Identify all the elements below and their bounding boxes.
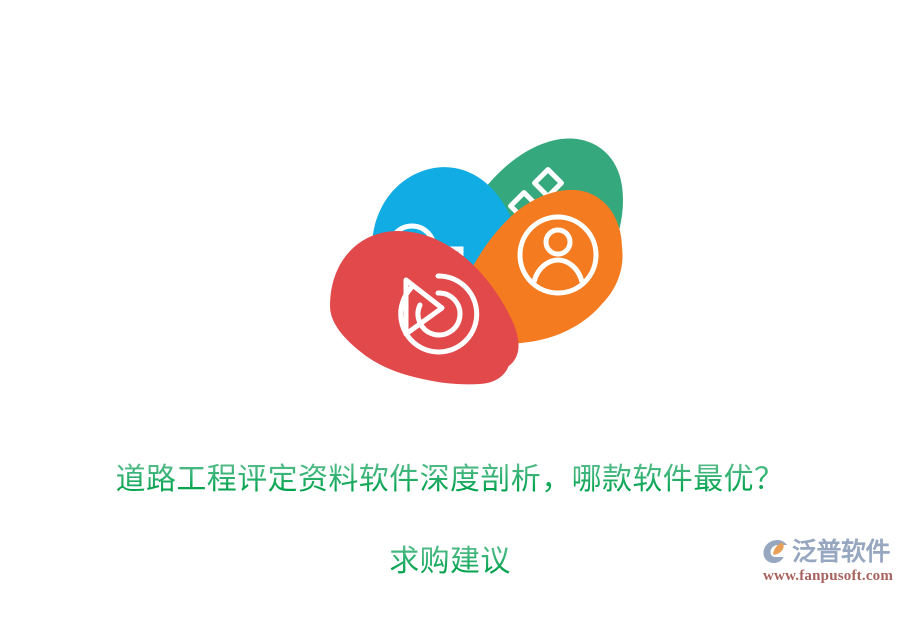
watermark-brand-row: 泛普软件: [762, 536, 890, 566]
headline-line-1: 道路工程评定资料软件深度剖析，哪款软件最优？: [0, 459, 900, 500]
page-root: 道路工程评定资料软件深度剖析，哪款软件最优？ 求购建议 泛普软件 www.fan…: [0, 0, 900, 600]
page-headline: 道路工程评定资料软件深度剖析，哪款软件最优？ 求购建议: [0, 418, 900, 623]
watermark-brand-name: 泛普软件: [792, 538, 890, 565]
brand-logo: [310, 72, 630, 402]
fanpu-g-mark-icon: [762, 538, 789, 565]
watermark-url: www.fanpusoft.com: [763, 567, 893, 585]
watermark: 泛普软件 www.fanpusoft.com: [762, 536, 894, 588]
